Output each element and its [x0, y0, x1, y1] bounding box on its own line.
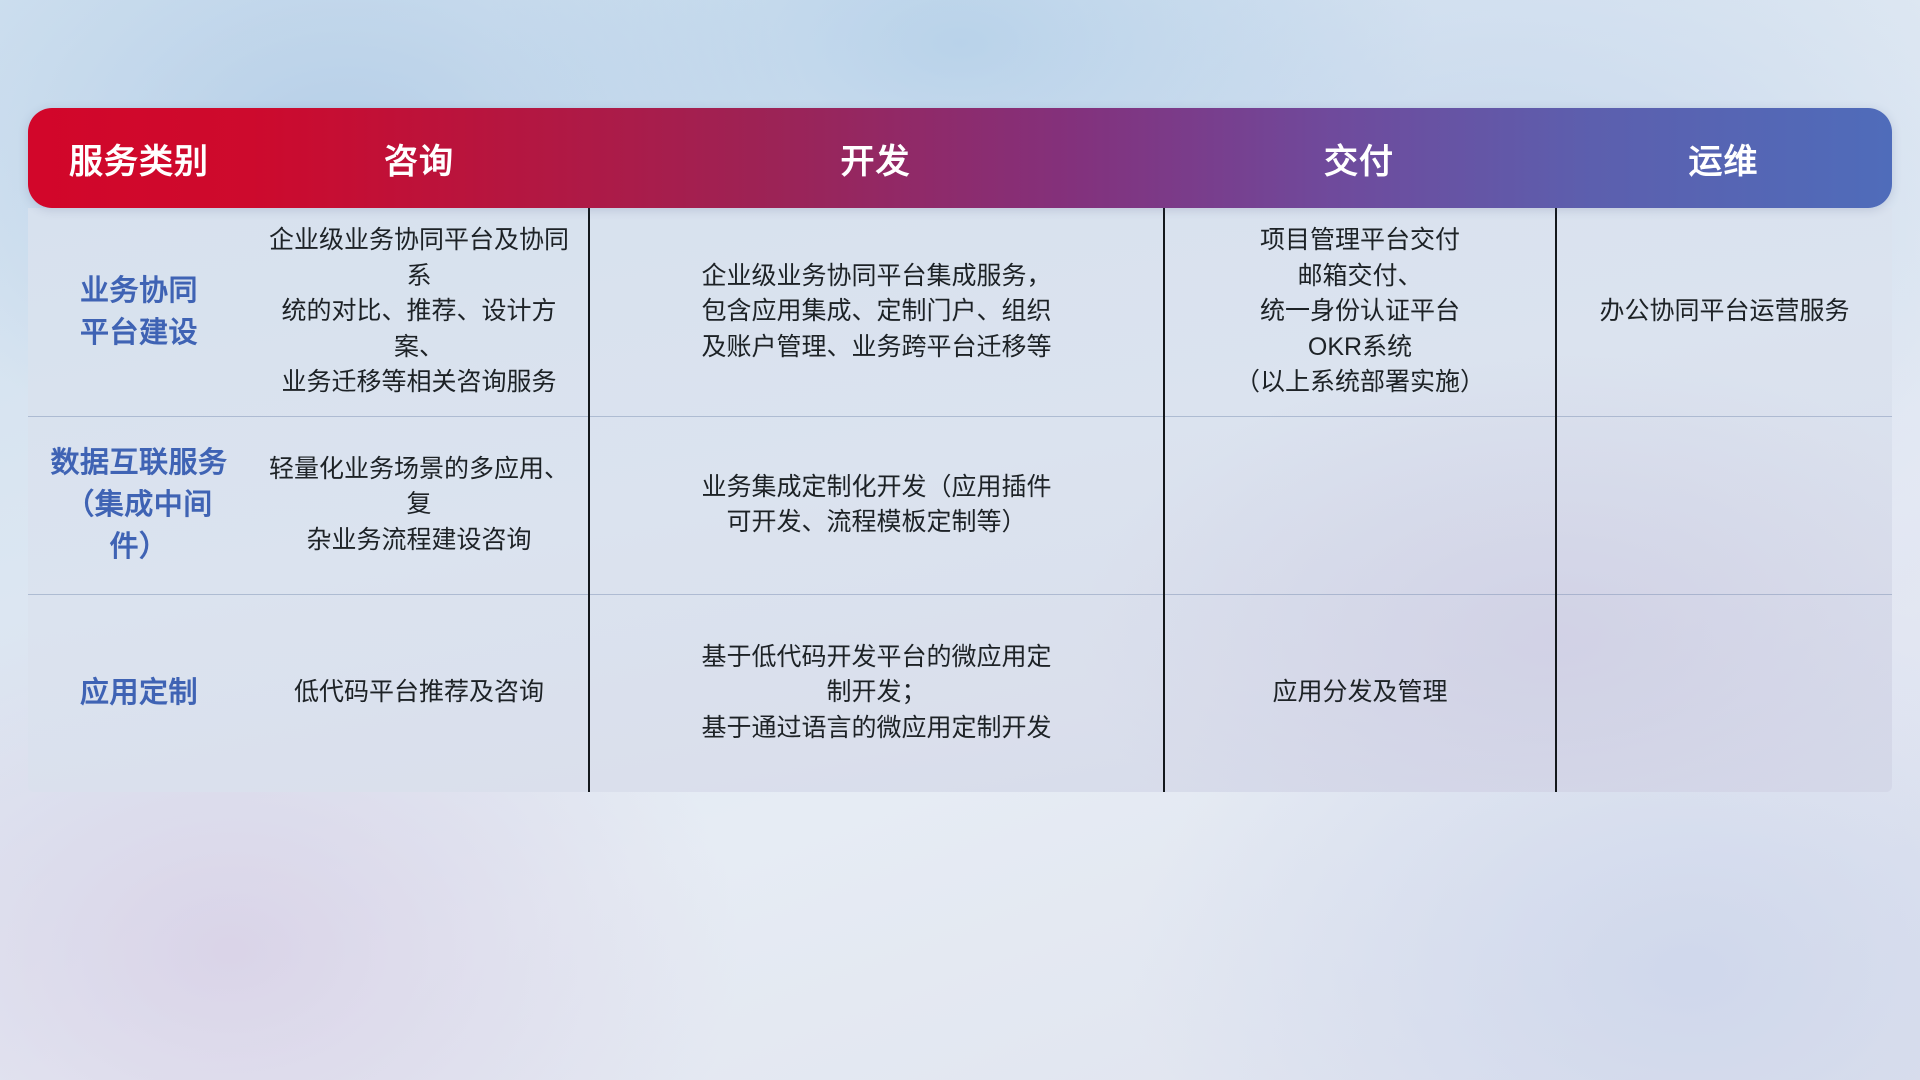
column-header-delivery: 交付	[1163, 108, 1555, 208]
table-row: 业务协同 平台建设 企业级业务协同平台及协同系 统的对比、推荐、设计方案、 业务…	[28, 208, 1892, 416]
column-header-category: 服务类别	[28, 108, 250, 208]
table-body: 业务协同 平台建设 企业级业务协同平台及协同系 统的对比、推荐、设计方案、 业务…	[28, 208, 1892, 792]
cell-development-r1: 企业级业务协同平台集成服务， 包含应用集成、定制门户、组织 及账户管理、业务跨平…	[588, 208, 1163, 416]
cell-development-r3: 基于低代码开发平台的微应用定 制开发； 基于通过语言的微应用定制开发	[588, 594, 1163, 792]
cell-consulting-r1: 企业级业务协同平台及协同系 统的对比、推荐、设计方案、 业务迁移等相关咨询服务	[250, 208, 588, 416]
service-matrix-table: 服务类别 咨询 开发 交付 运维 业务协同 平台建设 企业级业务协同平台及协同系…	[28, 108, 1892, 792]
cell-delivery-r2	[1163, 416, 1555, 594]
column-header-development: 开发	[588, 108, 1163, 208]
table-row: 应用定制 低代码平台推荐及咨询 基于低代码开发平台的微应用定 制开发； 基于通过…	[28, 594, 1892, 792]
cell-operations-r2	[1555, 416, 1892, 594]
cell-delivery-r1: 项目管理平台交付 邮箱交付、 统一身份认证平台 OKR系统 （以上系统部署实施）	[1163, 208, 1555, 416]
table-header-row: 服务类别 咨询 开发 交付 运维	[28, 108, 1892, 208]
row-label-business-collaboration: 业务协同 平台建设	[28, 208, 250, 416]
column-header-operations: 运维	[1555, 108, 1892, 208]
cell-development-r2: 业务集成定制化开发（应用插件 可开发、流程模板定制等）	[588, 416, 1163, 594]
cell-consulting-r3: 低代码平台推荐及咨询	[250, 594, 588, 792]
row-label-data-interconnect: 数据互联服务 （集成中间件）	[28, 416, 250, 594]
cell-operations-r1: 办公协同平台运营服务	[1555, 208, 1892, 416]
cell-delivery-r3: 应用分发及管理	[1163, 594, 1555, 792]
row-label-app-customization: 应用定制	[28, 594, 250, 792]
column-header-consulting: 咨询	[250, 108, 588, 208]
cell-consulting-r2: 轻量化业务场景的多应用、复 杂业务流程建设咨询	[250, 416, 588, 594]
table-row: 数据互联服务 （集成中间件） 轻量化业务场景的多应用、复 杂业务流程建设咨询 业…	[28, 416, 1892, 594]
cell-operations-r3	[1555, 594, 1892, 792]
